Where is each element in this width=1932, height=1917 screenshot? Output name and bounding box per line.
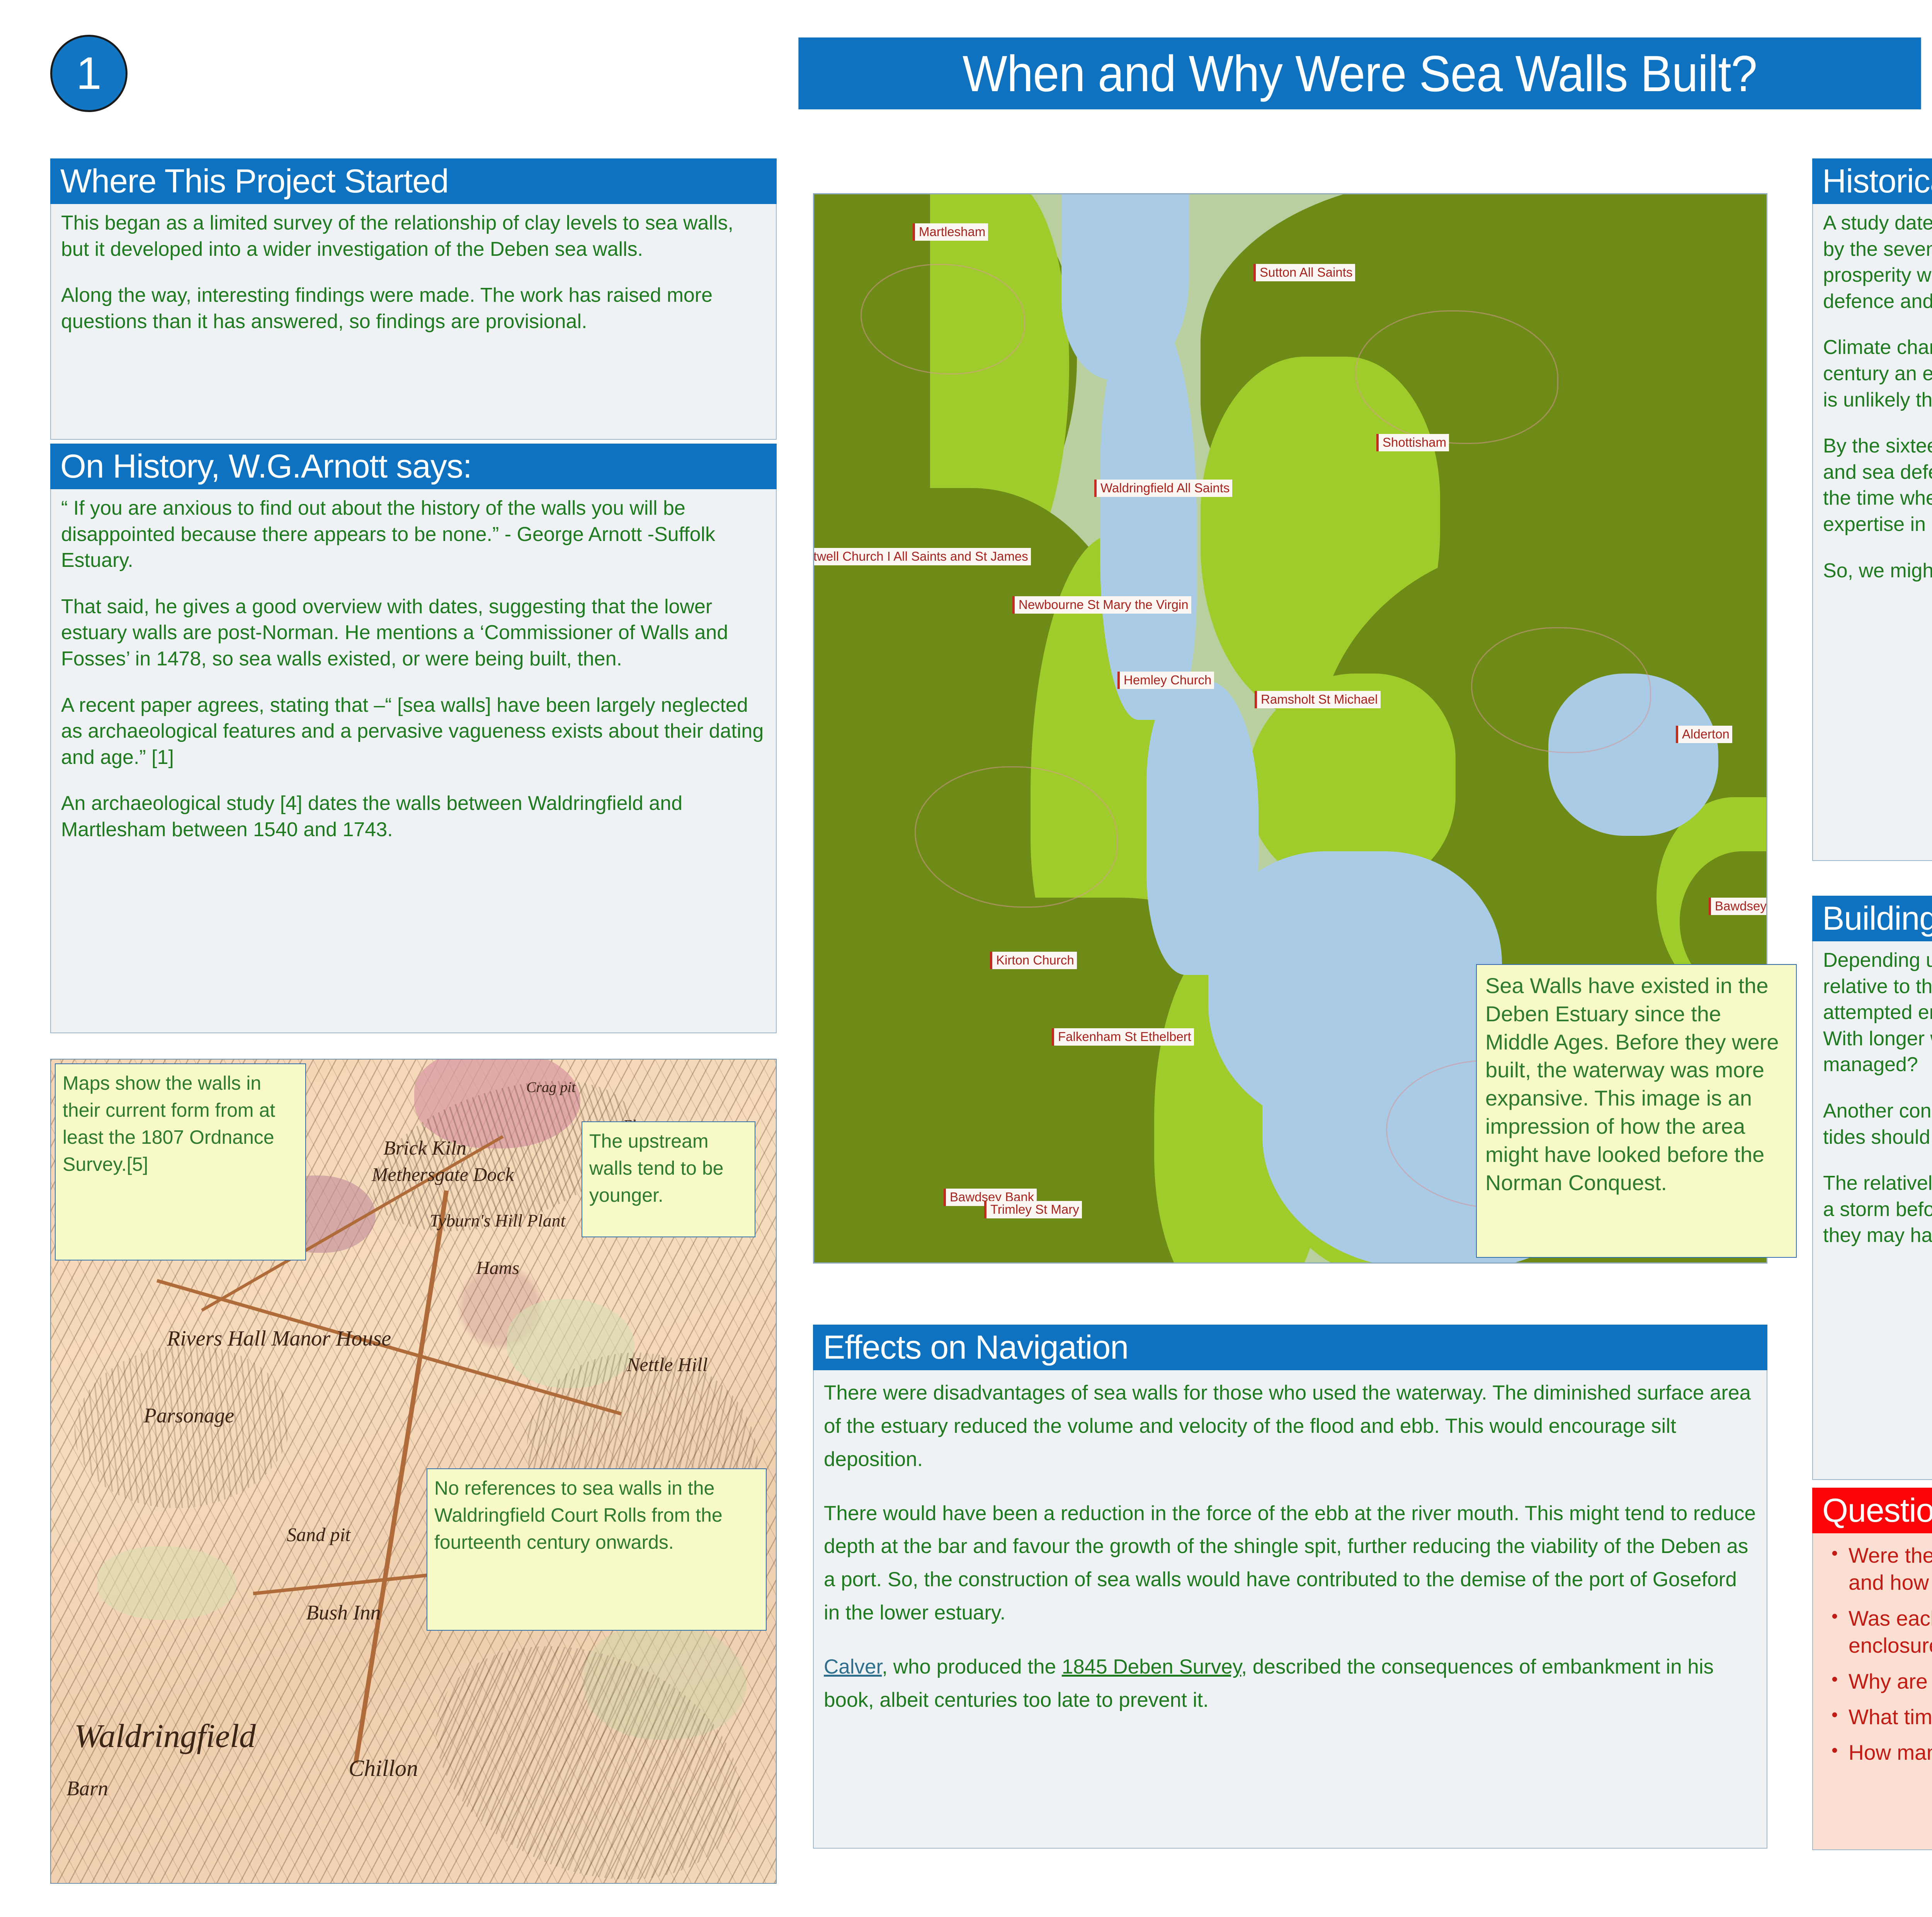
section-header-where-this-project-started: Where This Project Started (50, 158, 777, 204)
section-body-questions: Were the large enclosures, mainly in the… (1812, 1533, 1932, 1850)
calver-link[interactable]: Calver (824, 1655, 882, 1678)
paragraph: A study dates the beginning of sea wall … (1823, 210, 1932, 315)
paragraph: An archaeological study [4] dates the wa… (61, 791, 766, 843)
map-label: Ramsholt St Michael (1255, 691, 1381, 708)
callout-no-references-court-rolls: No references to sea walls in the Waldri… (427, 1468, 767, 1631)
page-title: When and Why Were Sea Walls Built? (798, 37, 1921, 109)
list-item: Why are there no signs of intermediate w… (1849, 1668, 1932, 1695)
calver-mid-text: , who produced the (882, 1655, 1062, 1678)
section-title-text: Effects on Navigation (823, 1331, 1128, 1364)
list-item: How many man days per kilometre? (1849, 1739, 1932, 1766)
map-label: Sutton All Saints (1253, 264, 1355, 281)
section-body-effects-on-navigation: There were disadvantages of sea walls fo… (813, 1370, 1767, 1849)
deben-survey-link[interactable]: 1845 Deben Survey (1062, 1655, 1242, 1678)
paragraph: There would have been a reduction in the… (824, 1497, 1757, 1630)
map-place-name: Brick Kiln (383, 1137, 466, 1160)
map-place-name: Chillon (349, 1755, 418, 1782)
map-place-name: Methersgate Dock (372, 1163, 514, 1186)
paragraph: That said, he gives a good overview with… (61, 594, 766, 672)
map-label: Kirton Church (990, 952, 1077, 969)
questions-list: Were the large enclosures, mainly in the… (1825, 1542, 1932, 1766)
map-label: Falkenham St Ethelbert (1052, 1028, 1194, 1046)
callout-text: Maps show the walls in their current for… (63, 1072, 275, 1175)
callout-upstream-walls-younger: The upstream walls tend to be younger. (582, 1121, 755, 1237)
map-place-name: Parsonage (144, 1403, 234, 1427)
paragraph: There were disadvantages of sea walls fo… (824, 1376, 1757, 1476)
paragraph: This began as a limited survey of the re… (61, 210, 766, 262)
section-header-historical-context: Historical Context (1812, 158, 1932, 204)
map-place-name: Nettle Hill (627, 1353, 708, 1376)
paragraph: Along the way, interesting findings were… (61, 282, 766, 335)
callout-text: The upstream walls tend to be younger. (589, 1130, 723, 1206)
section-body-historical-context: A study dates the beginning of sea wall … (1812, 204, 1932, 861)
section-title-text: Questions (1822, 1494, 1932, 1527)
map-place-name: Crag pit (526, 1079, 576, 1096)
paragraph: By the sixteenth and seventeenth centuri… (1823, 433, 1932, 538)
paragraph: So, we might expect the build dates to b… (1823, 558, 1932, 584)
map-place-name: Waldringfield (74, 1716, 256, 1755)
map-label: Martlesham (913, 223, 988, 241)
section-body-on-history-arnott: “ If you are anxious to find out about t… (50, 489, 777, 1033)
map-label: Shottisham (1376, 434, 1449, 451)
map-label: Trimley St Mary (984, 1201, 1082, 1218)
callout-sea-walls-middle-ages: Sea Walls have existed in the Deben Estu… (1476, 964, 1797, 1258)
section-title-text: Historical Context (1822, 165, 1932, 198)
list-item: What time of year were walls built? (1849, 1703, 1932, 1730)
slide-number-label: 1 (76, 51, 102, 96)
map-place-name: Rivers Hall Manor House (167, 1326, 391, 1351)
section-header-questions: Questions (1812, 1488, 1932, 1533)
paragraph-hams: The relatively small 500m wall attempted… (1823, 1170, 1932, 1249)
map-place-name: Tyburn's Hill Plant (430, 1210, 565, 1231)
slide-number-badge: 1 (50, 35, 128, 112)
hams-lead-text: The relatively small 500m wall attempted… (1823, 1172, 1932, 1194)
callout-text: Sea Walls have existed in the Deben Estu… (1485, 973, 1779, 1195)
map-label: Hemley Church (1117, 672, 1214, 689)
paragraph: “ If you are anxious to find out about t… (61, 495, 766, 574)
list-item: Was each marsh enclosed in a single oper… (1849, 1605, 1932, 1659)
map-place-name: Sand pit (287, 1523, 350, 1546)
paragraph: Climate change and the Black Death made … (1823, 335, 1932, 413)
map-label: Bawdsey (1709, 898, 1767, 915)
section-body-building-the-walls: Depending upon ownership, sea walls woul… (1812, 941, 1932, 1480)
map-place-name: Hams (476, 1257, 519, 1279)
paragraph-calver: Calver, who produced the 1845 Deben Surv… (824, 1650, 1757, 1717)
page-title-text: When and Why Were Sea Walls Built? (963, 44, 1757, 103)
map-place-name: Bush Inn (306, 1601, 381, 1624)
paragraph: A recent paper agrees, stating that –“ [… (61, 692, 766, 771)
section-header-on-history-arnott: On History, W.G.Arnott says: (50, 444, 777, 489)
callout-text: No references to sea walls in the Waldri… (434, 1477, 723, 1553)
section-title-text: Where This Project Started (60, 165, 449, 198)
map-label: Alderton (1676, 726, 1732, 743)
callout-maps-show-walls: Maps show the walls in their current for… (55, 1063, 306, 1260)
section-header-effects-on-navigation: Effects on Navigation (813, 1325, 1767, 1370)
section-body-where-this-project-started: This began as a limited survey of the re… (50, 204, 777, 440)
map-label: Waldringfield All Saints (1094, 480, 1232, 497)
section-title-text: On History, W.G.Arnott says: (60, 450, 472, 483)
map-label: Newbourne St Mary the Virgin (1012, 596, 1191, 614)
section-header-building-the-walls: Building the Walls (1812, 896, 1932, 941)
paragraph: Another consideration would be the vulne… (1823, 1098, 1932, 1150)
map-label: Brightwell Church I All Saints and St Ja… (813, 548, 1031, 565)
paragraph: Depending upon ownership, sea walls woul… (1823, 947, 1932, 1078)
list-item: Were the large enclosures, mainly in the… (1849, 1542, 1932, 1596)
map-place-name: Barn (66, 1776, 108, 1800)
section-title-text: Building the Walls (1822, 902, 1932, 935)
